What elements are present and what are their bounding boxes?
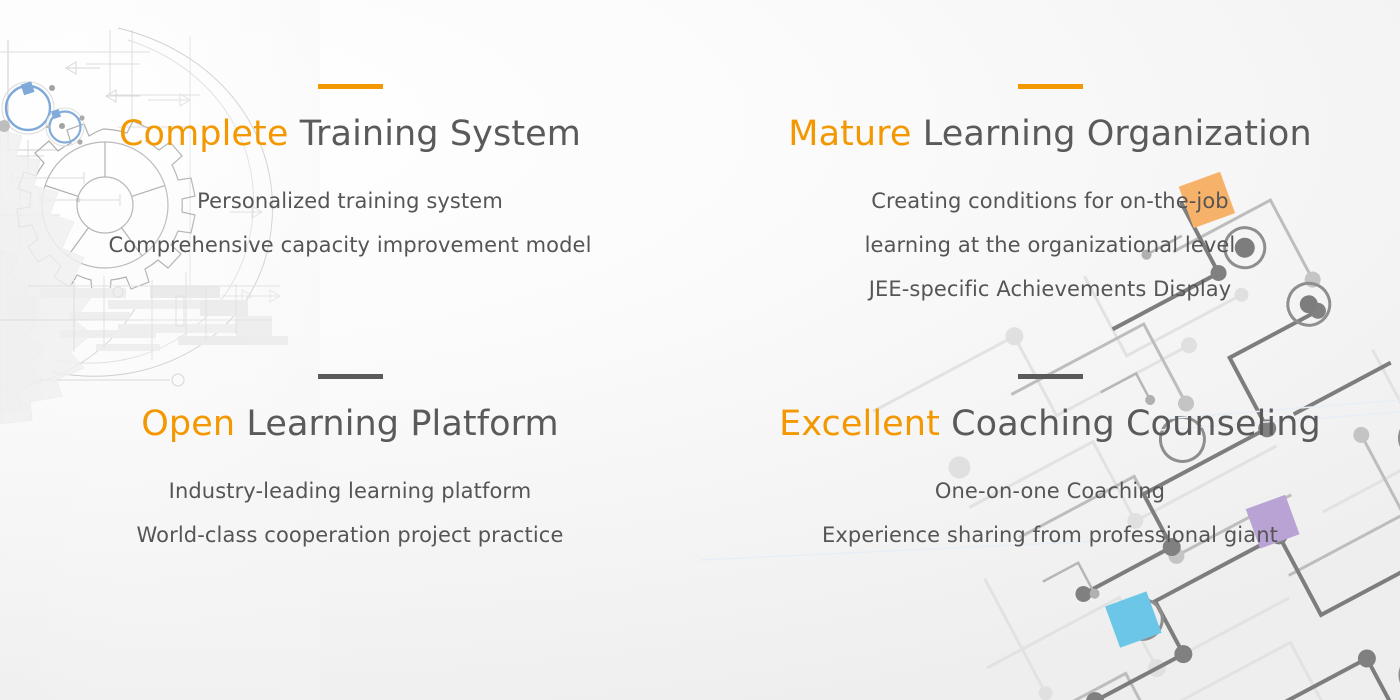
panel-title-rest: Coaching Counseling [940,404,1321,444]
panel-divider [318,84,383,89]
panel-title-rest: Learning Organization [912,114,1312,154]
panel-line: learning at the organizational level [865,223,1236,267]
feature-panel-excellent-coaching-counseling: Excellent Coaching Counseling One-on-one… [700,350,1400,700]
panel-title-rest: Training System [289,114,581,154]
panel-divider [318,374,383,379]
panel-title-highlight: Open [141,404,235,444]
panel-divider [1018,84,1083,89]
panel-line: Industry-leading learning platform [169,469,532,513]
panel-line: JEE-specific Achievements Display [869,267,1232,311]
panel-lines: Industry-leading learning platform World… [137,469,564,557]
panel-title-highlight: Mature [788,114,911,154]
panel-lines: One-on-one Coaching Experience sharing f… [822,469,1278,557]
feature-grid: Complete Training System Personalized tr… [0,0,1400,700]
panel-title: Complete Training System [119,116,581,153]
panel-lines: Creating conditions for on-the-job learn… [865,179,1236,311]
panel-line: World-class cooperation project practice [137,513,564,557]
panel-lines: Personalized training system Comprehensi… [108,179,591,267]
feature-panel-open-learning-platform: Open Learning Platform Industry-leading … [0,350,700,700]
feature-panel-mature-learning-organization: Mature Learning Organization Creating co… [700,0,1400,350]
panel-line: Experience sharing from professional gia… [822,513,1278,557]
panel-line: One-on-one Coaching [935,469,1165,513]
panel-divider [1018,374,1083,379]
panel-title: Excellent Coaching Counseling [779,406,1321,443]
panel-title-rest: Learning Platform [235,404,559,444]
panel-line: Personalized training system [197,179,503,223]
feature-panel-complete-training-system: Complete Training System Personalized tr… [0,0,700,350]
panel-title-highlight: Complete [119,114,288,154]
panel-line: Creating conditions for on-the-job [871,179,1228,223]
panel-title: Open Learning Platform [141,406,559,443]
panel-line: Comprehensive capacity improvement model [108,223,591,267]
slide-canvas: Complete Training System Personalized tr… [0,0,1400,700]
panel-title: Mature Learning Organization [788,116,1311,153]
panel-title-highlight: Excellent [779,404,940,444]
